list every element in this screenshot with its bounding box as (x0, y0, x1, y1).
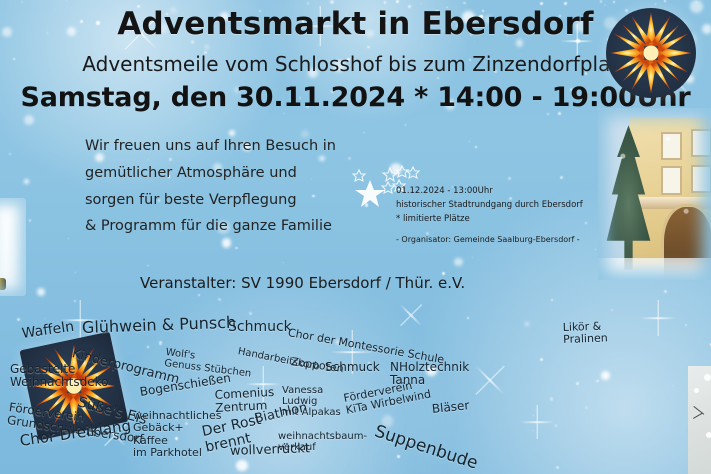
sparkle-dot (472, 257, 474, 259)
sidenote-line-3: * limitierte Plätze (396, 212, 606, 226)
sparkle-dot (475, 146, 477, 148)
sparkle-dot (405, 124, 407, 126)
sparkle-dot (147, 265, 148, 266)
word-cloud-item: Bläser (431, 399, 470, 416)
sparkle-dot (218, 298, 221, 301)
sparkle-dot (74, 300, 76, 302)
sparkle-dot (24, 179, 29, 184)
word-cloud-item: Waffeln (21, 320, 75, 343)
page-title: Adventsmarkt in Ebersdorf (0, 6, 711, 42)
sparkle-dot (235, 247, 237, 249)
word-cloud-item: Likör & Pralinen (563, 320, 608, 346)
sparkle-dot (37, 288, 45, 296)
building-photo (598, 108, 711, 280)
sparkle-dot (9, 153, 11, 155)
word-cloud-item: Schmuck (228, 320, 292, 336)
sparkle-dot (198, 294, 200, 296)
sidenote-organizer: - Organisator: Gemeinde Saalburg-Ebersdo… (396, 235, 606, 244)
star-icon (609, 11, 693, 95)
word-cloud-item: Förderverein KiTa Wirbelwind (343, 377, 433, 418)
sparkle-dot (454, 258, 462, 266)
building-window (691, 129, 711, 157)
vendor-word-cloud: WaffelnGlühwein & PunschSchmuckChor der … (0, 305, 711, 474)
snow-ground (598, 258, 711, 280)
fragment-detail (0, 278, 6, 290)
sparkle-dot (664, 290, 667, 293)
building-window (661, 132, 682, 160)
sparkle-dot (29, 219, 32, 222)
moravian-star-photo-top-right (606, 8, 696, 98)
poster-subtitle: Adventsmeile vom Schlosshof bis zum Zinz… (0, 52, 711, 76)
sparkle-dot (551, 299, 553, 301)
sparkle-dot (508, 177, 511, 180)
word-cloud-item: Glühwein & Punsch (82, 314, 237, 337)
sidenote-line-1: 01.12.2024 - 13:00Uhr (396, 184, 606, 198)
sparkle-dot (469, 141, 470, 142)
building-window (661, 166, 682, 194)
sparkle-dot (283, 262, 284, 263)
sparkle-dot (595, 249, 596, 250)
sparkle-dot (68, 238, 69, 239)
sparkle-dot (560, 176, 563, 179)
intro-line-3: & Programm für die ganze Familie (85, 213, 415, 240)
building-window (691, 165, 711, 193)
sparkle-dot (75, 272, 76, 273)
sidenote-block: 01.12.2024 - 13:00Uhr historischer Stadt… (396, 184, 606, 244)
word-cloud-item: Gebastelte Weihnachtsdeko (10, 363, 108, 390)
left-photo-fragment (0, 198, 26, 296)
advent-market-poster: Adventsmarkt in Ebersdorf Adventsmeile v… (0, 0, 711, 474)
word-cloud-item: wollverrückt (230, 442, 310, 459)
veranstalter-line: Veranstalter: SV 1990 Ebersdorf / Thür. … (140, 274, 465, 292)
word-cloud-item: Suppenbude (372, 422, 480, 473)
word-cloud-item: Schmuck (325, 361, 380, 374)
poster-banner: Adventsmarkt in Ebersdorf Adventsmeile v… (0, 0, 711, 118)
sidenote-line-2: historischer Stadtrundgang durch Ebersdo… (396, 198, 606, 212)
